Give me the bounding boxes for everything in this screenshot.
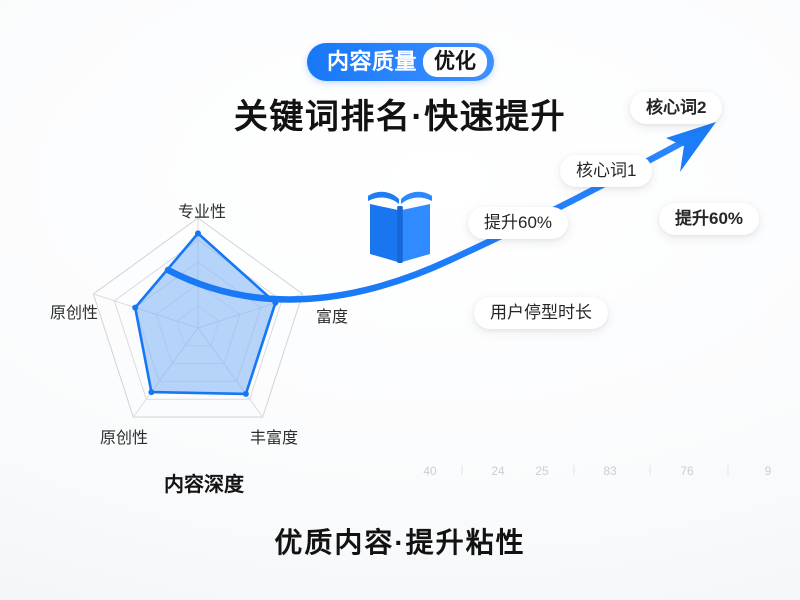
pill-core-keyword-2[interactable]: 核心词2 [630, 92, 722, 124]
tick-mark [462, 465, 463, 475]
pill-improvement-1[interactable]: 提升60% [468, 207, 568, 239]
radar-axis-label-left: 原创性 [50, 299, 98, 323]
status-badge: 内容质量 优化 [307, 43, 494, 81]
radar-axis-label-top: 专业性 [178, 198, 226, 222]
pill-improvement-2[interactable]: 提升60% [659, 203, 759, 235]
tick-number: 83 [603, 462, 616, 480]
badge-pill-label: 优化 [423, 47, 487, 77]
radar-axis-label-right: 富度 [316, 303, 348, 327]
tick-number: 76 [680, 462, 693, 480]
tick-mark [728, 465, 729, 475]
pill-core-keyword-1[interactable]: 核心词1 [560, 155, 652, 187]
tick-number: 25 [535, 462, 548, 480]
tick-number: 24 [491, 462, 504, 480]
content-depth-label: 内容深度 [164, 468, 244, 497]
tick-number: 9 [765, 462, 772, 480]
open-book-icon [362, 182, 438, 273]
radar-axis-label-bottom-left: 原创性 [100, 424, 148, 448]
badge-main-label: 内容质量 [327, 51, 417, 73]
radar-chart [18, 200, 378, 455]
faint-axis-ticks: 40 24 25 83 76 9 [410, 462, 800, 486]
tick-mark [574, 465, 575, 475]
tick-number: 40 [423, 462, 436, 480]
footer-title: 优质内容·提升粘性 [0, 521, 800, 561]
pill-user-dwell-time[interactable]: 用户停型时长 [474, 297, 608, 329]
poster-canvas: 内容质量 优化 关键词排名·快速提升 [0, 0, 800, 600]
radar-axis-label-bottom-right: 丰富度 [250, 424, 298, 448]
tick-mark [650, 465, 651, 475]
radar-series [132, 230, 278, 397]
